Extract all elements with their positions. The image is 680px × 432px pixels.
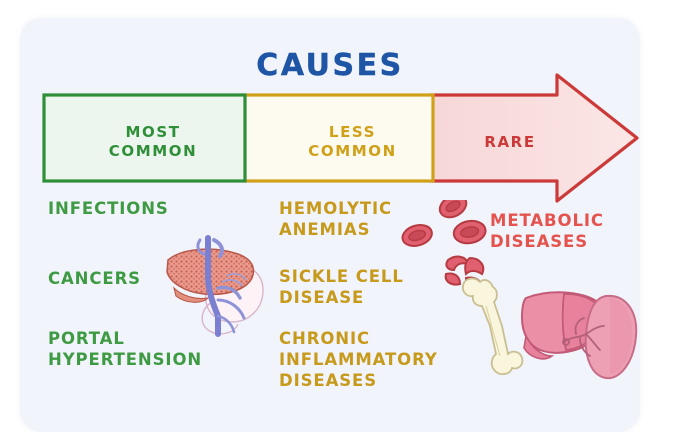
bone-icon (463, 279, 523, 375)
cause-line: CHRONIC (279, 328, 438, 349)
segment-label-line2: COMMON (262, 142, 443, 161)
segment-label-line1: LESS (262, 123, 443, 142)
cause-item: CANCERS (48, 268, 141, 289)
cause-item: METABOLIC DISEASES (490, 210, 604, 252)
cause-line: METABOLIC (490, 210, 604, 231)
cause-item: INFECTIONS (48, 198, 169, 219)
cause-line: DISEASES (279, 370, 438, 391)
cause-line: DISEASE (279, 287, 404, 308)
cause-line: DISEASES (490, 231, 604, 252)
cause-line: HYPERTENSION (48, 349, 202, 370)
segment-label-line2: COMMON (44, 142, 262, 161)
cause-line: HEMOLYTIC (279, 198, 392, 219)
spectrum-arrow: MOST COMMON LESS COMMON RARE (20, 73, 640, 203)
segment-label-line1: RARE (450, 133, 570, 152)
cause-line: INFECTIONS (48, 198, 169, 219)
cause-line: ANEMIAS (279, 219, 392, 240)
segment-label-most-common: MOST COMMON (44, 123, 262, 161)
liver-portal-vein-illustration (160, 230, 280, 340)
segment-label-line1: MOST (44, 123, 262, 142)
cause-line: INFLAMMATORY (279, 349, 438, 370)
infographic-canvas: CAUSES (0, 0, 680, 432)
infographic-card: CAUSES (20, 18, 640, 432)
cause-line: SICKLE CELL (279, 266, 404, 287)
cause-line: CANCERS (48, 268, 141, 289)
cause-item: CHRONIC INFLAMMATORY DISEASES (279, 328, 438, 391)
segment-label-less-common: LESS COMMON (262, 123, 443, 161)
bone-liver-spleen-illustration (460, 270, 640, 400)
cause-item: HEMOLYTIC ANEMIAS (279, 198, 392, 240)
cause-item: SICKLE CELL DISEASE (279, 266, 404, 308)
segment-label-rare: RARE (450, 133, 570, 152)
